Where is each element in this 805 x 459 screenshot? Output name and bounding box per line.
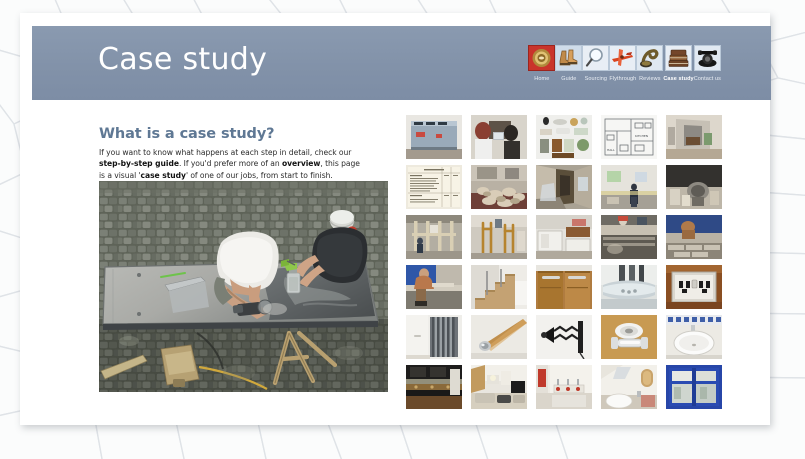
thumbnail-tiling-in-progress[interactable] [666,215,722,259]
thumbnail-plumbing-first-fix[interactable] [471,215,527,259]
intro-paragraph: If you want to know what happens at each… [99,147,365,182]
thumbnail-washbasin-with-tiles[interactable] [666,315,722,359]
main-navigation[interactable]: Home Guide [528,45,721,83]
thumbnail-finished-dark-kitchen[interactable] [406,365,462,409]
thumbnail-rubble-strip-out[interactable] [471,165,527,209]
intro-text: ' of one of our jobs, from start to fini… [186,171,333,180]
thumbnail-double-power-socket[interactable] [666,265,722,309]
thumbnail-framing-stud-walls[interactable] [406,215,462,259]
section-heading: What is a case study? [99,126,274,142]
nav-item-home[interactable]: Home [528,45,555,83]
thumbnail-kitchen-units-flatpack[interactable] [536,215,592,259]
nav-label-guide: Guide [561,75,576,83]
thumbnail-empty-room-interior[interactable] [666,115,722,159]
nav-label-case-study: Case study [663,75,693,83]
nav-item-flythrough[interactable]: Flythrough [609,45,636,83]
red-airplane-icon[interactable] [609,45,636,71]
thumbnail-chrome-toilet-roll-holder[interactable] [601,315,657,359]
intro-text: . If you'd prefer more of an [179,159,282,168]
intro-emphasis: overview [282,159,320,168]
nav-item-contact-us[interactable]: Contact us [694,45,721,83]
nav-item-case-study[interactable]: Case study [663,45,693,83]
site-header: Case study Home [32,26,771,100]
intro-emphasis: step-by-step guide [99,159,179,168]
thumbnail-staircase-build[interactable] [471,265,527,309]
magnifying-glass-icon[interactable] [582,45,609,71]
case-study-gallery[interactable]: KITCHENHALL [406,115,722,409]
thumbnail-worktop-install[interactable] [601,215,657,259]
thumbnail-timber-cabinet-doors[interactable] [536,265,592,309]
thumbnail-oak-handrail-detail[interactable] [471,315,527,359]
thumbnail-demolition-hallway[interactable] [536,165,592,209]
rotary-telephone-icon[interactable] [694,45,721,71]
stone-cutting-workers-photo [99,181,388,392]
stacked-books-icon[interactable] [665,45,692,71]
screenshot-stage: Case study Home [0,0,805,459]
brass-horn-icon[interactable] [636,45,663,71]
thumbnail-vertical-column-radiator[interactable] [406,315,462,359]
nav-label-contact-us: Contact us [694,75,721,83]
gold-disc-icon[interactable] [528,45,555,71]
thumbnail-finished-open-plan-living[interactable] [471,365,527,409]
thumbnail-worker-plastering-wall[interactable] [601,165,657,209]
thumbnail-materials-mood-board[interactable] [536,115,592,159]
svg-text:KITCHEN: KITCHEN [635,134,648,138]
thumbnail-architectural-floor-plan[interactable]: KITCHENHALL [601,115,657,159]
thumbnail-worker-fitting-worktop[interactable] [406,265,462,309]
nav-label-sourcing: Sourcing [585,75,608,83]
thumbnail-two-people-reviewing-plans[interactable] [471,115,527,159]
thumbnail-black-wall-light[interactable] [536,315,592,359]
intro-text: If you want to know what happens at each… [99,148,351,157]
nav-label-home: Home [534,75,549,83]
nav-item-guide[interactable]: Guide [555,45,582,83]
thumbnail-cement-mixer-on-site[interactable] [666,165,722,209]
nav-label-reviews: Reviews [639,75,660,83]
page-title: Case study [98,42,267,77]
thumbnail-glass-cooker-hood[interactable] [601,265,657,309]
intro-emphasis: case study [141,171,186,180]
thumbnail-blue-french-doors[interactable] [666,365,722,409]
thumbnail-finished-loft-bathroom[interactable] [601,365,657,409]
nav-item-sourcing[interactable]: Sourcing [582,45,609,83]
thumbnail-finished-utility-room[interactable] [536,365,592,409]
nav-item-reviews[interactable]: Reviews [636,45,663,83]
svg-text:HALL: HALL [607,148,615,152]
work-boots-icon[interactable] [555,45,582,71]
thumbnail-garage-doors-exterior[interactable] [406,115,462,159]
thumbnail-quotation-document[interactable] [406,165,462,209]
nav-label-flythrough: Flythrough [609,75,636,83]
